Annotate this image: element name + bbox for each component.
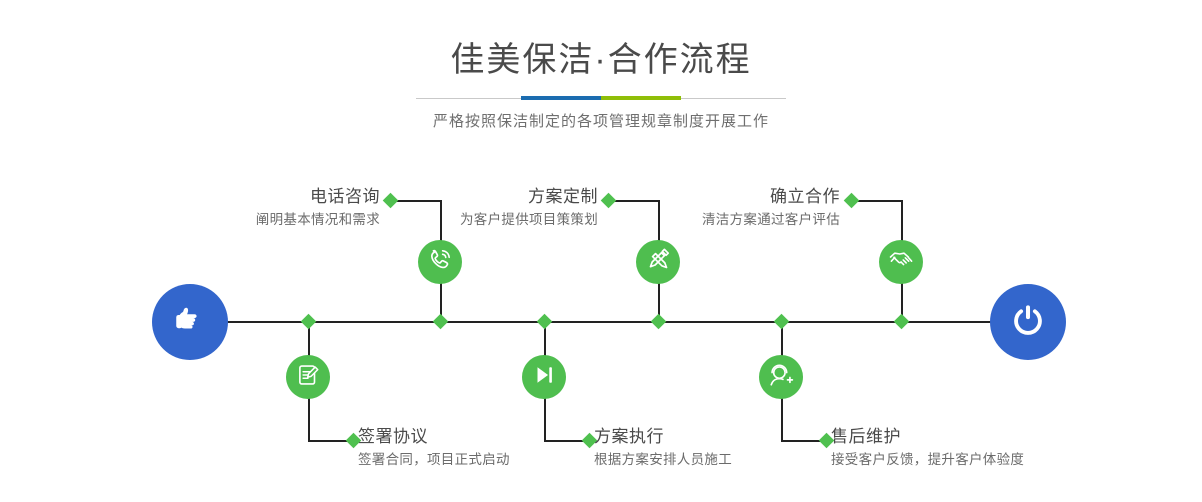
step-label-3: 方案定制 为客户提供项目策策划 [420, 186, 598, 230]
step-icon-1 [418, 240, 462, 284]
page-title: 佳美保洁·合作流程 [0, 38, 1202, 82]
step-icon-5 [879, 240, 923, 284]
step-title-1: 电话咨询 [205, 186, 380, 208]
step-label-2: 签署协议 签署合同，项目正式启动 [358, 426, 578, 470]
step-label-marker-5 [844, 193, 860, 209]
step-label-6: 售后维护 接受客户反馈，提升客户体验度 [831, 426, 1081, 470]
timeline-start-node [152, 284, 228, 360]
divider-blue-segment [521, 96, 601, 100]
play-skip-icon [531, 362, 557, 393]
step-desc-4: 根据方案安排人员施工 [594, 450, 814, 470]
process-flow-diagram: 佳美保洁·合作流程 严格按照保洁制定的各项管理规章制度开展工作 [0, 0, 1202, 502]
support-agent-icon [768, 362, 794, 393]
step-label-marker-1 [383, 193, 399, 209]
step-marker-6 [774, 314, 790, 330]
step-title-3: 方案定制 [420, 186, 598, 208]
step-icon-4 [522, 355, 566, 399]
pencil-ruler-icon [645, 246, 672, 278]
page-subtitle: 严格按照保洁制定的各项管理规章制度开展工作 [0, 110, 1202, 131]
step-label-marker-3 [601, 193, 617, 209]
step-desc-6: 接受客户反馈，提升客户体验度 [831, 450, 1081, 470]
step-marker-4 [537, 314, 553, 330]
step-title-5: 确立合作 [660, 186, 840, 208]
step-marker-3 [651, 314, 667, 330]
document-edit-icon [295, 362, 321, 393]
step-icon-6 [759, 355, 803, 399]
step-label-4: 方案执行 根据方案安排人员施工 [594, 426, 814, 470]
step-desc-5: 清洁方案通过客户评估 [660, 210, 840, 230]
step-title-4: 方案执行 [594, 426, 814, 448]
timeline-axis [160, 321, 1042, 323]
header: 佳美保洁·合作流程 严格按照保洁制定的各项管理规章制度开展工作 [0, 0, 1202, 131]
pointing-hand-icon [168, 298, 212, 347]
step-label-1: 电话咨询 阐明基本情况和需求 [205, 186, 380, 230]
step-marker-5 [894, 314, 910, 330]
timeline-end-node [990, 284, 1066, 360]
step-desc-1: 阐明基本情况和需求 [205, 210, 380, 230]
step-icon-2 [286, 355, 330, 399]
phone-call-icon [426, 246, 454, 279]
step-desc-3: 为客户提供项目策策划 [420, 210, 598, 230]
step-label-5: 确立合作 清洁方案通过客户评估 [660, 186, 840, 230]
step-marker-1 [433, 314, 449, 330]
power-icon [1006, 298, 1050, 347]
handshake-icon [888, 246, 915, 278]
step-icon-3 [636, 240, 680, 284]
step-title-6: 售后维护 [831, 426, 1081, 448]
divider-green-segment [601, 96, 681, 100]
step-title-2: 签署协议 [358, 426, 578, 448]
step-desc-2: 签署合同，项目正式启动 [358, 450, 578, 470]
step-marker-2 [301, 314, 317, 330]
title-divider [416, 96, 786, 100]
